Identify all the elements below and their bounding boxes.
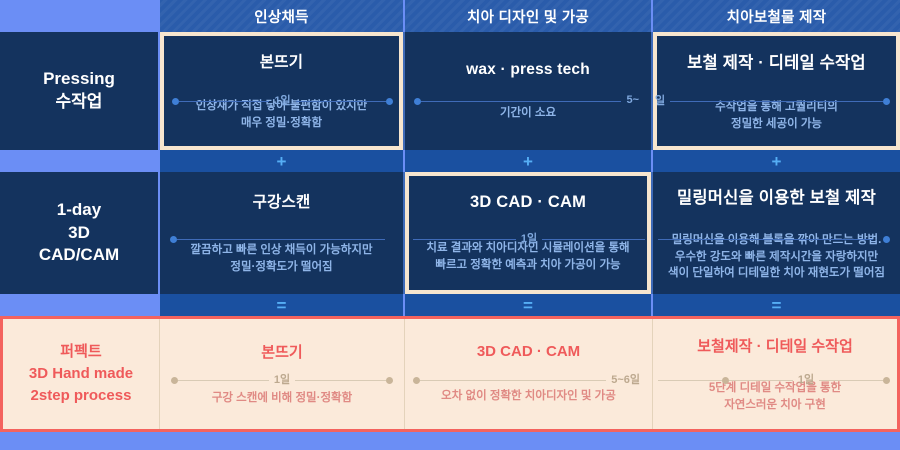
- equals-icon: =: [523, 297, 533, 314]
- stage-desc-line-1: 기간이 소요: [500, 105, 556, 122]
- equals-icon: =: [772, 297, 782, 314]
- row-label-perfect-line-1: 퍼펙트: [29, 341, 133, 363]
- stage-desc-line-2: 빠르고 정확한 예측과 치아 가공이 가능: [426, 257, 629, 274]
- connector-equals-col3: =: [653, 294, 900, 316]
- header-column-1: 인상채득: [160, 0, 405, 32]
- row-label-pressing-line-1: Pressing: [43, 68, 115, 91]
- stage-desc-line-1: 인상재가 직접 닿아 불편함이 있지만: [196, 98, 367, 115]
- stage-title-oneday3d-col1: 구강스캔: [253, 190, 311, 212]
- cell-perfect-col3[interactable]: 보철제작 · 디테일 수작업 5단계 디테일 수작업을 통한 자연스러운 치아 …: [653, 319, 897, 429]
- row-label-perfect-line-2: 3D Hand made: [29, 363, 133, 385]
- stage-desc-oneday3d-col3: 밀링머신을 이용해 블록을 깎아 만드는 방법. 우수한 강도와 빠른 제작시간…: [668, 232, 885, 282]
- stage-desc-line-1: 밀링머신을 이용해 블록을 깎아 만드는 방법.: [668, 232, 885, 249]
- stage-title-pressing-col2: wax · press tech: [466, 61, 590, 79]
- stage-desc-pressing-col3: 수작업을 통해 고퀄리티의 정밀한 세공이 가능: [715, 99, 838, 132]
- stage-desc-pressing-col2: 기간이 소요: [500, 105, 556, 122]
- stage-desc-line-2: 정밀한 세공이 가능: [715, 116, 838, 133]
- stage-desc-line-1: 5단계 디테일 수작업을 통한: [709, 380, 841, 397]
- stage-desc-perfect-col2: 오차 없이 정확한 치아디자인 및 가공: [441, 388, 616, 405]
- row-label-oneday3d: 1-day 3D CAD/CAM: [0, 172, 160, 294]
- stage-title-pressing-col3: 보철 제작 · 디테일 수작업: [687, 49, 866, 73]
- highlight-frame-pressing-col3: 보철 제작 · 디테일 수작업 수작업을 통해 고퀄리티의 정밀한 세공이 가능: [653, 32, 900, 150]
- stage-desc-perfect-col3: 5단계 디테일 수작업을 통한 자연스러운 치아 구현: [709, 380, 841, 413]
- highlight-frame-pressing-col1: 본뜨기 인상재가 직접 닿아 불편함이 있지만 매우 정밀·정확함: [160, 32, 403, 150]
- plus-icon: +: [523, 153, 533, 170]
- stage-desc-line-2: 정밀·정확도가 떨어짐: [190, 259, 372, 276]
- header-column-3-label: 치아보철물 제작: [727, 6, 827, 27]
- row-label-pressing: Pressing 수작업: [0, 32, 160, 150]
- connector-equals-col2: =: [405, 294, 653, 316]
- row-label-oneday3d-line-2: 3D: [39, 222, 119, 245]
- header-column-2-label: 치아 디자인 및 가공: [467, 6, 589, 27]
- row-label-perfect: 퍼펙트 3D Hand made 2step process: [3, 319, 160, 429]
- connector-plus-col3: +: [653, 150, 900, 172]
- stage-desc-line-2: 우수한 강도와 빠른 제작시간을 자랑하지만: [668, 249, 885, 266]
- cell-pressing-col3[interactable]: 보철 제작 · 디테일 수작업 수작업을 통해 고퀄리티의 정밀한 세공이 가능: [653, 32, 900, 150]
- connector-plus-col2: +: [405, 150, 653, 172]
- stage-desc-line-1: 깔끔하고 빠른 인상 채득이 가능하지만: [190, 242, 372, 259]
- plus-icon: +: [277, 153, 287, 170]
- header-column-1-label: 인상채득: [254, 6, 309, 27]
- header-corner-blank: [0, 0, 160, 32]
- stage-title-pressing-col1: 본뜨기: [260, 50, 303, 72]
- row-label-pressing-line-2: 수작업: [43, 91, 115, 114]
- stage-desc-pressing-col1: 인상재가 직접 닿아 불편함이 있지만 매우 정밀·정확함: [196, 98, 367, 131]
- row-label-oneday3d-line-3: CAD/CAM: [39, 244, 119, 267]
- stage-desc-line-2: 매우 정밀·정확함: [196, 115, 367, 132]
- cell-perfect-col2[interactable]: 3D CAD · CAM 오차 없이 정확한 치아디자인 및 가공: [405, 319, 653, 429]
- cell-oneday3d-col3[interactable]: 밀링머신을 이용한 보철 제작 밀링머신을 이용해 블록을 깎아 만드는 방법.…: [653, 172, 900, 294]
- cell-oneday3d-col1[interactable]: 구강스캔 깔끔하고 빠른 인상 채득이 가능하지만 정밀·정확도가 떨어짐: [160, 172, 405, 294]
- connector-plus-blank: [0, 150, 160, 172]
- stage-desc-perfect-col1: 구강 스캔에 비해 정밀·정확함: [212, 390, 352, 407]
- cell-perfect-col1[interactable]: 본뜨기 구강 스캔에 비해 정밀·정확함: [160, 319, 405, 429]
- stage-title-perfect-col1: 본뜨기: [261, 341, 302, 362]
- header-column-2: 치아 디자인 및 가공: [405, 0, 653, 32]
- stage-desc-oneday3d-col2: 치료 결과와 치아디자인 시뮬레이션을 통해 빠르고 정확한 예측과 치아 가공…: [426, 240, 629, 273]
- cell-pressing-col2[interactable]: wax · press tech 기간이 소요: [405, 32, 653, 150]
- connector-equals-blank: [0, 294, 160, 316]
- stage-desc-line-1: 구강 스캔에 비해 정밀·정확함: [212, 390, 352, 407]
- row-perfect: 퍼펙트 3D Hand made 2step process 본뜨기 구강 스캔…: [0, 316, 900, 432]
- connector-equals-col1: =: [160, 294, 405, 316]
- row-label-oneday3d-line-1: 1-day: [39, 199, 119, 222]
- stage-title-perfect-col3: 보철제작 · 디테일 수작업: [697, 335, 853, 356]
- stage-desc-line-1: 수작업을 통해 고퀄리티의: [715, 99, 838, 116]
- stage-title-oneday3d-col2: 3D CAD · CAM: [470, 193, 586, 212]
- stage-desc-line-2: 자연스러운 치아 구현: [709, 397, 841, 414]
- equals-icon: =: [277, 297, 287, 314]
- cell-pressing-col1[interactable]: 본뜨기 인상재가 직접 닿아 불편함이 있지만 매우 정밀·정확함: [160, 32, 405, 150]
- stage-desc-line-1: 치료 결과와 치아디자인 시뮬레이션을 통해: [426, 240, 629, 257]
- row-label-perfect-line-3: 2step process: [29, 385, 133, 407]
- plus-icon: +: [772, 153, 782, 170]
- stage-desc-line-1: 오차 없이 정확한 치아디자인 및 가공: [441, 388, 616, 405]
- cell-oneday3d-col2[interactable]: 3D CAD · CAM 치료 결과와 치아디자인 시뮬레이션을 통해 빠르고 …: [405, 172, 653, 294]
- highlight-frame-oneday3d-col2: 3D CAD · CAM 치료 결과와 치아디자인 시뮬레이션을 통해 빠르고 …: [405, 172, 651, 294]
- stage-title-oneday3d-col3: 밀링머신을 이용한 보철 제작: [677, 184, 876, 208]
- stage-title-perfect-col2: 3D CAD · CAM: [477, 343, 580, 360]
- header-column-3: 치아보철물 제작: [653, 0, 900, 32]
- process-comparison-table: 인상채득 치아 디자인 및 가공 치아보철물 제작 Pressing 수작업 본…: [0, 0, 900, 450]
- stage-desc-line-3: 색이 단일하여 디테일한 치아 재현도가 떨어짐: [668, 265, 885, 282]
- stage-desc-oneday3d-col1: 깔끔하고 빠른 인상 채득이 가능하지만 정밀·정확도가 떨어짐: [190, 242, 372, 275]
- connector-plus-col1: +: [160, 150, 405, 172]
